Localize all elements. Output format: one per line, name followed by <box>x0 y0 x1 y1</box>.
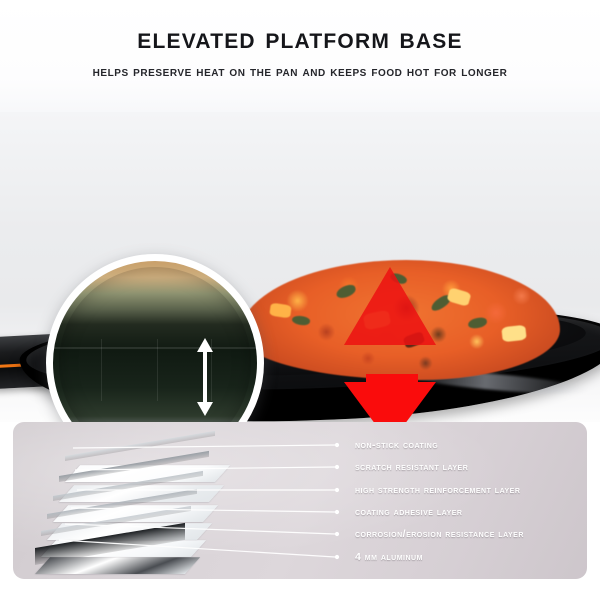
base-height-arrow-icon <box>196 338 214 416</box>
magnifier-inner-shadow <box>59 267 251 422</box>
header-section: Elevated Platform Base Helps preserve he… <box>0 0 600 112</box>
elevation-marker-down-triangle <box>344 382 436 422</box>
infographic-page: Elevated Platform Base Helps preserve he… <box>0 0 600 600</box>
aluminum-plate <box>35 532 185 574</box>
food-chunk <box>269 303 292 319</box>
layer-label-coating-adhesive: Coating Adhesive Layer <box>355 506 462 518</box>
product-photo-section <box>0 112 600 422</box>
herb-leaf <box>467 317 487 330</box>
elevation-marker-up-triangle <box>344 267 436 345</box>
food-chunk <box>501 325 526 342</box>
herb-leaf <box>291 314 310 327</box>
base-edge-line <box>53 347 257 349</box>
layer-structure-panel: Non-stick Coating Scratch Resistant Laye… <box>13 422 587 579</box>
page-title: Elevated Platform Base <box>0 22 600 56</box>
layer-label-scratch-resistant: Scratch Resistant Layer <box>355 461 468 473</box>
base-groove-line <box>101 339 102 401</box>
magnifier-circle <box>46 254 264 422</box>
food-chunk <box>446 287 471 307</box>
base-groove-line <box>157 339 158 401</box>
page-subtitle: Helps preserve heat on the pan and keeps… <box>0 63 600 79</box>
aluminum-plate-face <box>35 557 200 574</box>
layer-label-high-strength: High Strength Reinforcement Layer <box>355 484 520 496</box>
layer-label-corrosion-resistance: Corrosion/Erosion Resistance Layer <box>355 528 524 540</box>
layer-label-aluminum: 4 mm Aluminum <box>355 551 423 563</box>
layer-label-non-stick-coating: Non-stick Coating <box>355 439 438 451</box>
